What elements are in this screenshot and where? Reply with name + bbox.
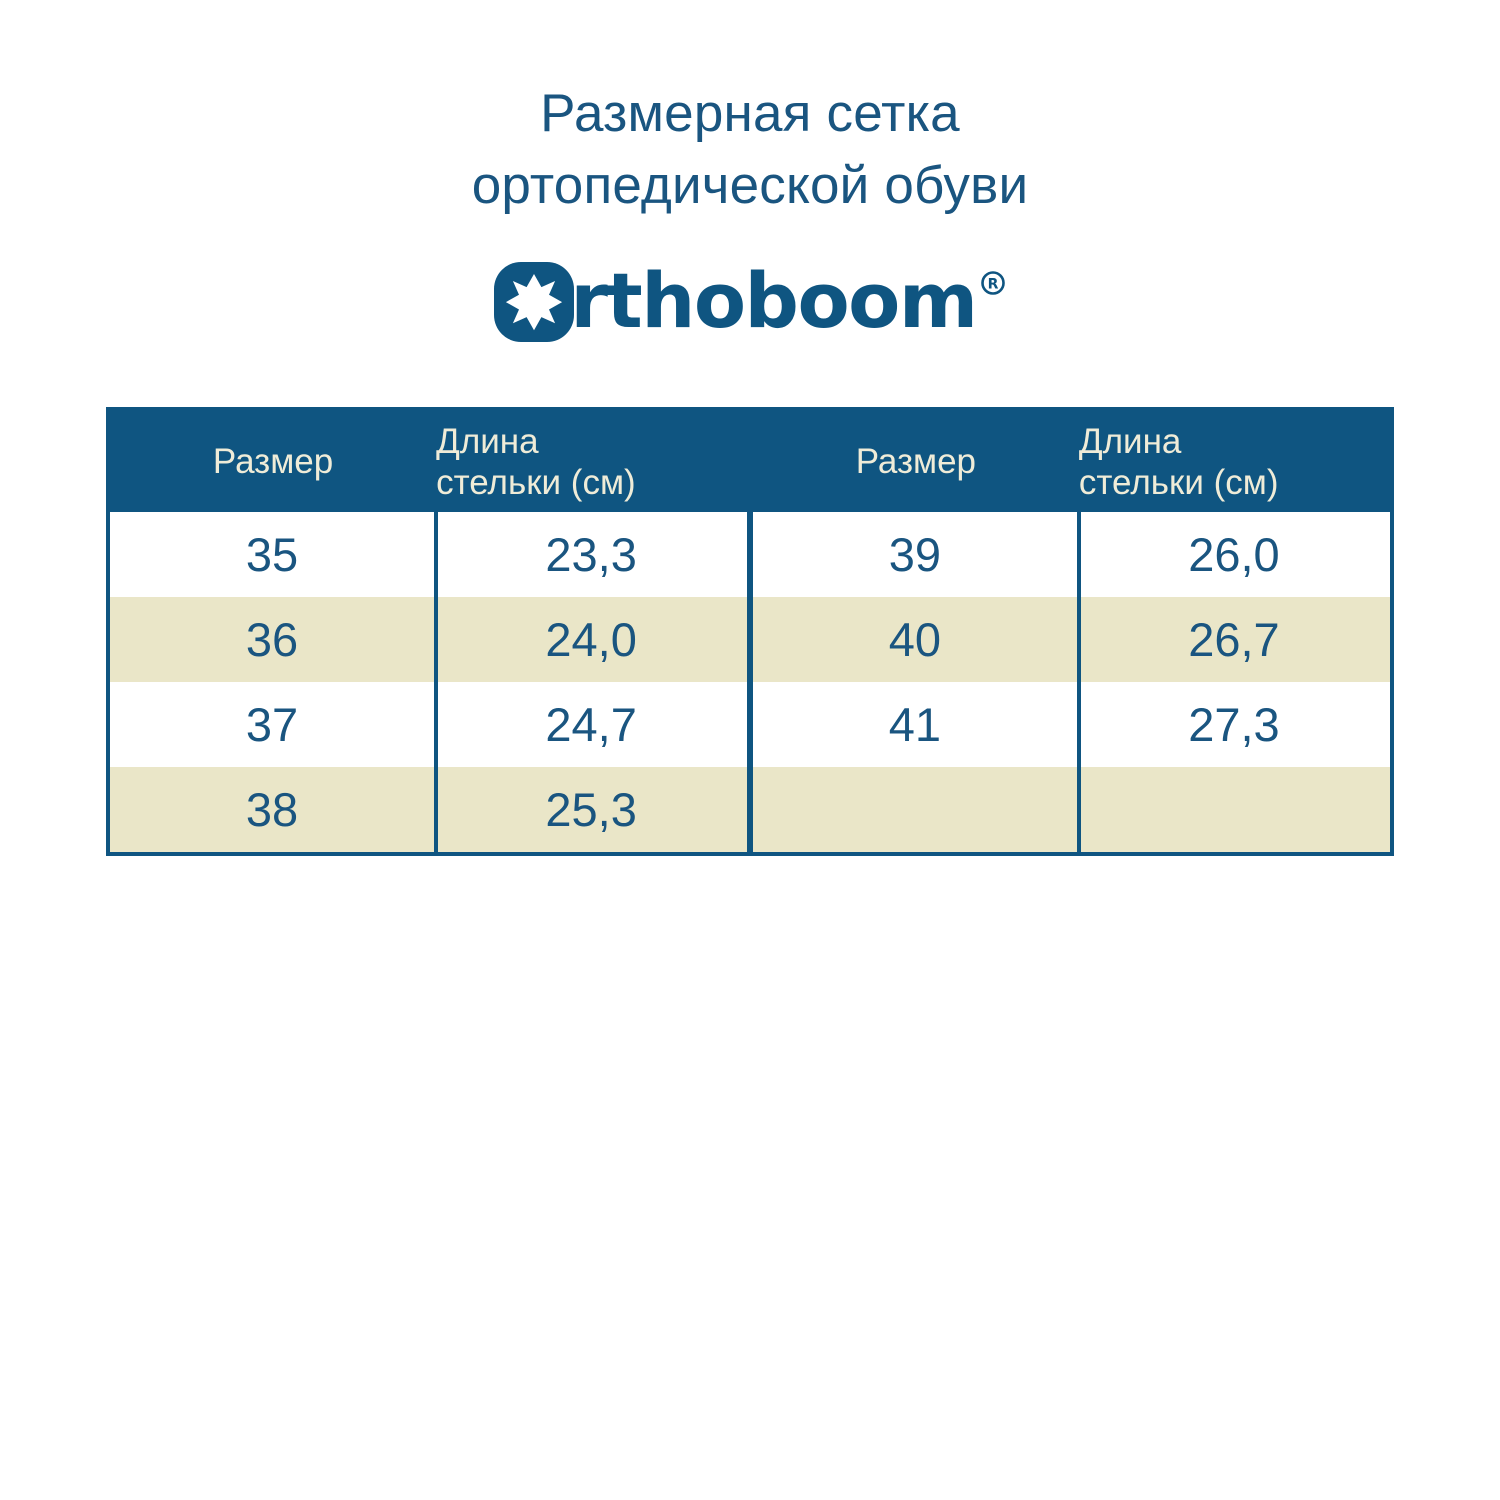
registered-trademark-icon: R [980, 270, 1006, 296]
column-header-insole-left-line-1: Длина [436, 422, 538, 461]
cell-insole-left: 25,3 [436, 767, 747, 852]
column-header-insole-left: Длина стельки (см) [436, 411, 747, 512]
cell-size-left: 36 [110, 597, 436, 682]
cell-insole-left: 24,7 [436, 682, 747, 767]
column-header-insole-right-line-1: Длина [1079, 422, 1181, 461]
cell-insole-right: 27,3 [1079, 682, 1390, 767]
table-row: 36 24,0 40 26,7 [110, 597, 1390, 682]
cell-size-right [753, 767, 1079, 852]
table-header-row: Размер Длина стельки (см) Размер Длина с… [110, 411, 1390, 512]
cell-size-right: 40 [753, 597, 1079, 682]
brand-logo: rthoboom R [0, 256, 1500, 346]
eight-point-star-in-circle-icon [494, 262, 574, 342]
page-title-line-2: ортопедической обуви [0, 150, 1500, 222]
column-header-size-left: Размер [110, 411, 436, 512]
page-title-line-1: Размерная сетка [0, 78, 1500, 150]
page-title: Размерная сетка ортопедической обуви [0, 78, 1500, 222]
svg-text:R: R [987, 276, 998, 292]
cell-insole-left: 23,3 [436, 512, 747, 597]
table-row: 35 23,3 39 26,0 [110, 512, 1390, 597]
table-row: 37 24,7 41 27,3 [110, 682, 1390, 767]
table-row: 38 25,3 [110, 767, 1390, 852]
cell-size-left: 38 [110, 767, 436, 852]
table-body: 35 23,3 39 26,0 36 24,0 40 26,7 37 24,7 [110, 512, 1390, 852]
column-header-insole-right: Длина стельки (см) [1079, 411, 1390, 512]
column-header-insole-left-line-2: стельки (см) [436, 462, 747, 503]
cell-size-right: 39 [753, 512, 1079, 597]
cell-insole-right: 26,7 [1079, 597, 1390, 682]
cell-size-left: 37 [110, 682, 436, 767]
column-header-insole-right-line-2: стельки (см) [1079, 462, 1390, 503]
cell-size-left: 35 [110, 512, 436, 597]
size-chart-page: Размерная сетка ортопедической обуви rth… [0, 0, 1500, 1500]
brand-wordmark: rthoboom [570, 258, 976, 344]
cell-size-right: 41 [753, 682, 1079, 767]
cell-insole-right [1079, 767, 1390, 852]
cell-insole-left: 24,0 [436, 597, 747, 682]
cell-insole-right: 26,0 [1079, 512, 1390, 597]
size-chart-table: Размер Длина стельки (см) Размер Длина с… [106, 407, 1394, 856]
column-header-size-right: Размер [753, 411, 1079, 512]
